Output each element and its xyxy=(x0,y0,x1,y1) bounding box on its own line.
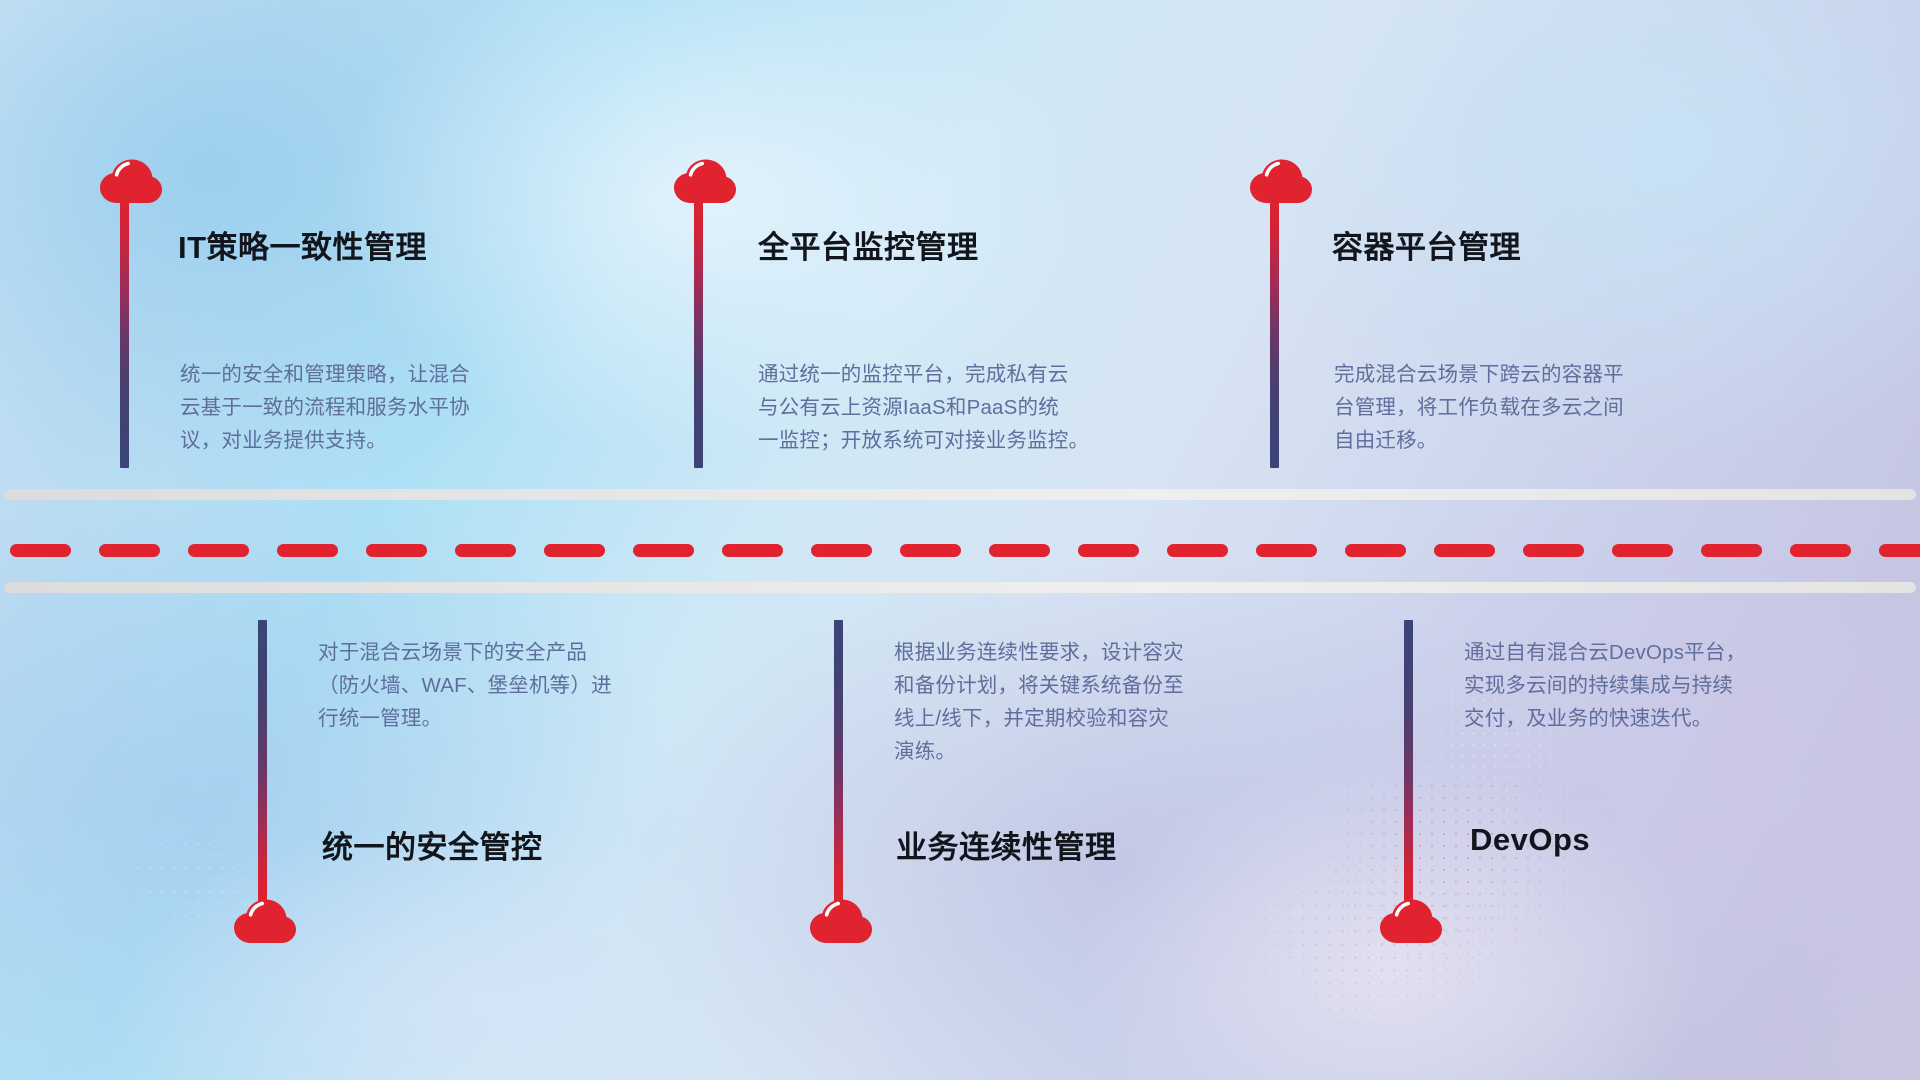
dash-segment xyxy=(1612,544,1673,557)
connector-line xyxy=(1404,620,1413,910)
cloud-icon xyxy=(232,898,296,944)
dash-segment xyxy=(1523,544,1584,557)
dot-texture xyxy=(1330,780,1630,1010)
dash-segment xyxy=(811,544,872,557)
divider-band-bottom xyxy=(4,582,1916,593)
connector-line xyxy=(834,620,843,910)
top-item-1-title: IT策略一致性管理 xyxy=(178,222,427,267)
background-bloom xyxy=(0,470,700,1080)
dash-segment xyxy=(1790,544,1851,557)
bottom-item-2-body: 根据业务连续性要求，设计容灾 和备份计划，将关键系统备份至 线上/线下，并定期校… xyxy=(894,636,1334,768)
bottom-item-1-title: 统一的安全管控 xyxy=(322,822,543,867)
cloud-icon xyxy=(98,158,162,204)
cloud-icon xyxy=(1248,158,1312,204)
dash-segment xyxy=(277,544,338,557)
dot-texture xyxy=(1180,860,1500,1060)
connector-line xyxy=(258,620,267,910)
top-item-3-body: 完成混合云场景下跨云的容器平 台管理，将工作负载在多云之间 自由迁移。 xyxy=(1334,358,1764,457)
dash-segment xyxy=(10,544,71,557)
dash-segment xyxy=(366,544,427,557)
infographic-canvas: IT策略一致性管理 统一的安全和管理策略，让混合 云基于一致的流程和服务水平协 … xyxy=(0,0,1920,1080)
dash-segment xyxy=(633,544,694,557)
dash-segment xyxy=(1167,544,1228,557)
bottom-item-1-body: 对于混合云场景下的安全产品 （防火墙、WAF、堡垒机等）进 行统一管理。 xyxy=(318,636,748,735)
dash-segment xyxy=(455,544,516,557)
dash-segment xyxy=(900,544,961,557)
cloud-icon xyxy=(1378,898,1442,944)
dash-segment xyxy=(1078,544,1139,557)
dash-segment xyxy=(1701,544,1762,557)
dash-segment xyxy=(989,544,1050,557)
background-bloom xyxy=(1280,430,1920,1080)
cloud-icon xyxy=(808,898,872,944)
dash-segment xyxy=(99,544,160,557)
dash-segment xyxy=(1879,544,1920,557)
bottom-item-3-body: 通过自有混合云DevOps平台， 实现多云间的持续集成与持续 交付，及业务的快速… xyxy=(1464,636,1894,735)
dash-segment xyxy=(544,544,605,557)
dash-segment xyxy=(1345,544,1406,557)
bottom-item-2-title: 业务连续性管理 xyxy=(896,822,1117,867)
connector-line xyxy=(1270,190,1279,468)
dash-segment xyxy=(722,544,783,557)
top-item-1-body: 统一的安全和管理策略，让混合 云基于一致的流程和服务水平协 议，对业务提供支持。 xyxy=(180,358,600,457)
dash-segment xyxy=(1256,544,1317,557)
bottom-item-3-title: DevOps xyxy=(1470,822,1590,858)
top-item-2-title: 全平台监控管理 xyxy=(758,222,979,267)
connector-line xyxy=(694,190,703,468)
divider-dashed-line xyxy=(0,543,1920,557)
dash-segment xyxy=(1434,544,1495,557)
top-item-3-title: 容器平台管理 xyxy=(1332,222,1521,267)
dash-segment xyxy=(188,544,249,557)
top-item-2-body: 通过统一的监控平台，完成私有云 与公有云上资源IaaS和PaaS的统 一监控；开… xyxy=(758,358,1208,457)
divider-band-top xyxy=(4,489,1916,500)
cloud-icon xyxy=(672,158,736,204)
connector-line xyxy=(120,190,129,468)
